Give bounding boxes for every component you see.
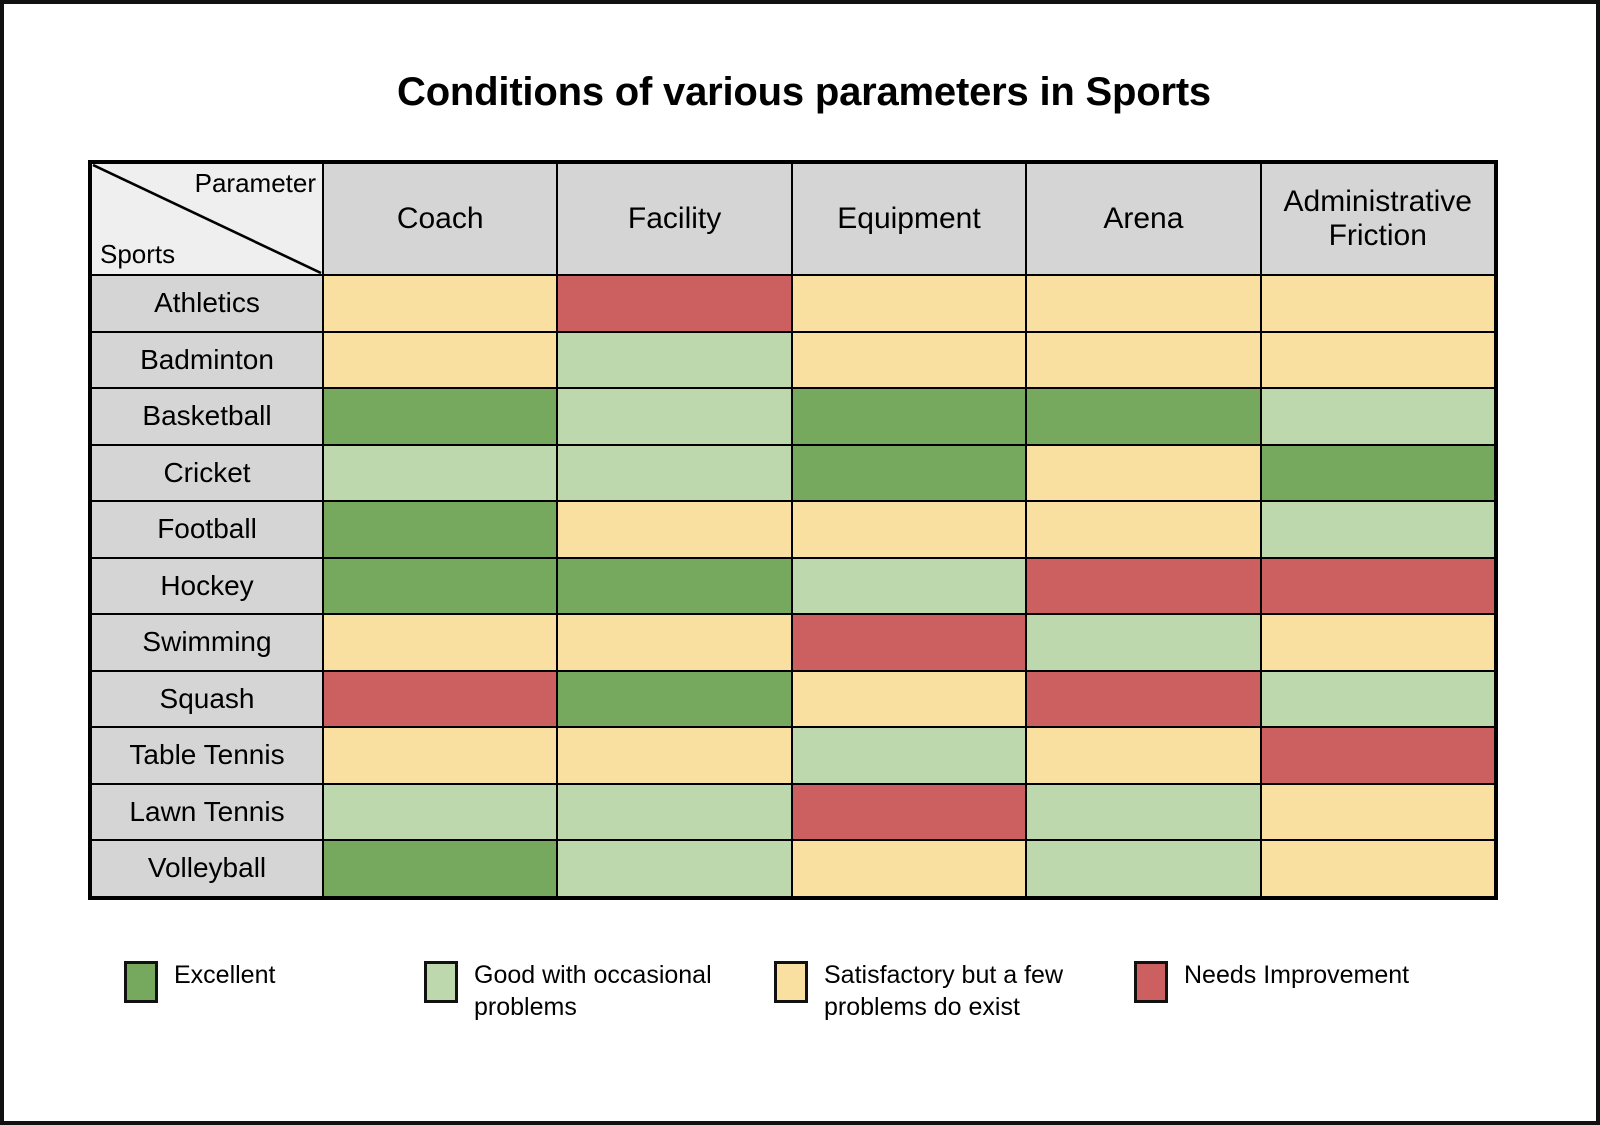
- legend: Excellent Good with occasional problems …: [90, 959, 1510, 1023]
- cell-hockey-arena[interactable]: [1026, 558, 1260, 615]
- matrix-row: Athletics: [91, 275, 1495, 332]
- cell-squash-arena[interactable]: [1026, 671, 1260, 728]
- row-header-hockey[interactable]: Hockey: [91, 558, 323, 615]
- cell-basketball-arena[interactable]: [1026, 388, 1260, 445]
- matrix-row: Lawn Tennis: [91, 784, 1495, 841]
- cell-hockey-coach[interactable]: [323, 558, 557, 615]
- legend-item-good[interactable]: Good with occasional problems: [424, 959, 774, 1023]
- page-root: Conditions of various parameters in Spor…: [0, 0, 1600, 1125]
- legend-swatch-satisfactory: [774, 961, 808, 1003]
- row-header-basketball[interactable]: Basketball: [91, 388, 323, 445]
- cell-badminton-administrative-friction[interactable]: [1261, 332, 1495, 389]
- cell-swimming-administrative-friction[interactable]: [1261, 614, 1495, 671]
- matrix-row: Badminton: [91, 332, 1495, 389]
- matrix-row: Squash: [91, 671, 1495, 728]
- row-header-lawn-tennis[interactable]: Lawn Tennis: [91, 784, 323, 841]
- cell-squash-equipment[interactable]: [792, 671, 1026, 728]
- matrix-container: Parameter Sports Coach Facility Equipmen…: [90, 162, 1494, 898]
- column-header-coach[interactable]: Coach: [323, 163, 557, 275]
- legend-label-good: Good with occasional problems: [474, 959, 744, 1023]
- parameter-axis-label: Parameter: [195, 170, 316, 197]
- cell-football-administrative-friction[interactable]: [1261, 501, 1495, 558]
- cell-volleyball-coach[interactable]: [323, 840, 557, 897]
- matrix-row: Volleyball: [91, 840, 1495, 897]
- cell-cricket-equipment[interactable]: [792, 445, 1026, 502]
- cell-basketball-administrative-friction[interactable]: [1261, 388, 1495, 445]
- cell-badminton-arena[interactable]: [1026, 332, 1260, 389]
- cell-hockey-equipment[interactable]: [792, 558, 1026, 615]
- cell-football-equipment[interactable]: [792, 501, 1026, 558]
- cell-basketball-facility[interactable]: [557, 388, 791, 445]
- row-header-badminton[interactable]: Badminton: [91, 332, 323, 389]
- cell-cricket-facility[interactable]: [557, 445, 791, 502]
- matrix-row: Football: [91, 501, 1495, 558]
- legend-label-needs-improvement: Needs Improvement: [1184, 959, 1409, 991]
- cell-hockey-facility[interactable]: [557, 558, 791, 615]
- cell-hockey-administrative-friction[interactable]: [1261, 558, 1495, 615]
- row-header-volleyball[interactable]: Volleyball: [91, 840, 323, 897]
- cell-badminton-facility[interactable]: [557, 332, 791, 389]
- legend-item-satisfactory[interactable]: Satisfactory but a few problems do exist: [774, 959, 1134, 1023]
- cell-athletics-equipment[interactable]: [792, 275, 1026, 332]
- cell-swimming-arena[interactable]: [1026, 614, 1260, 671]
- matrix-row: Swimming: [91, 614, 1495, 671]
- row-header-athletics[interactable]: Athletics: [91, 275, 323, 332]
- row-header-football[interactable]: Football: [91, 501, 323, 558]
- legend-swatch-good: [424, 961, 458, 1003]
- sports-axis-label: Sports: [100, 241, 175, 268]
- matrix-row: Cricket: [91, 445, 1495, 502]
- matrix-body: AthleticsBadmintonBasketballCricketFootb…: [91, 275, 1495, 897]
- cell-basketball-coach[interactable]: [323, 388, 557, 445]
- cell-lawn-tennis-coach[interactable]: [323, 784, 557, 841]
- cell-swimming-coach[interactable]: [323, 614, 557, 671]
- cell-swimming-equipment[interactable]: [792, 614, 1026, 671]
- page-title: Conditions of various parameters in Spor…: [4, 70, 1600, 115]
- cell-table-tennis-coach[interactable]: [323, 727, 557, 784]
- cell-lawn-tennis-facility[interactable]: [557, 784, 791, 841]
- cell-athletics-facility[interactable]: [557, 275, 791, 332]
- cell-badminton-coach[interactable]: [323, 332, 557, 389]
- cell-football-coach[interactable]: [323, 501, 557, 558]
- row-header-swimming[interactable]: Swimming: [91, 614, 323, 671]
- conditions-matrix-table: Parameter Sports Coach Facility Equipmen…: [90, 162, 1496, 898]
- column-header-equipment[interactable]: Equipment: [792, 163, 1026, 275]
- matrix-row: Hockey: [91, 558, 1495, 615]
- matrix-corner-cell: Parameter Sports: [91, 163, 323, 275]
- row-header-table-tennis[interactable]: Table Tennis: [91, 727, 323, 784]
- cell-volleyball-administrative-friction[interactable]: [1261, 840, 1495, 897]
- legend-label-excellent: Excellent: [174, 959, 275, 991]
- cell-volleyball-arena[interactable]: [1026, 840, 1260, 897]
- cell-cricket-arena[interactable]: [1026, 445, 1260, 502]
- cell-athletics-arena[interactable]: [1026, 275, 1260, 332]
- cell-squash-coach[interactable]: [323, 671, 557, 728]
- matrix-header-row: Parameter Sports Coach Facility Equipmen…: [91, 163, 1495, 275]
- cell-table-tennis-arena[interactable]: [1026, 727, 1260, 784]
- cell-table-tennis-equipment[interactable]: [792, 727, 1026, 784]
- matrix-head: Parameter Sports Coach Facility Equipmen…: [91, 163, 1495, 275]
- cell-football-facility[interactable]: [557, 501, 791, 558]
- cell-squash-administrative-friction[interactable]: [1261, 671, 1495, 728]
- cell-volleyball-facility[interactable]: [557, 840, 791, 897]
- cell-table-tennis-administrative-friction[interactable]: [1261, 727, 1495, 784]
- matrix-row: Table Tennis: [91, 727, 1495, 784]
- cell-lawn-tennis-arena[interactable]: [1026, 784, 1260, 841]
- cell-cricket-administrative-friction[interactable]: [1261, 445, 1495, 502]
- cell-athletics-administrative-friction[interactable]: [1261, 275, 1495, 332]
- legend-label-satisfactory: Satisfactory but a few problems do exist: [824, 959, 1094, 1023]
- column-header-arena[interactable]: Arena: [1026, 163, 1260, 275]
- cell-badminton-equipment[interactable]: [792, 332, 1026, 389]
- cell-volleyball-equipment[interactable]: [792, 840, 1026, 897]
- column-header-facility[interactable]: Facility: [557, 163, 791, 275]
- cell-basketball-equipment[interactable]: [792, 388, 1026, 445]
- cell-football-arena[interactable]: [1026, 501, 1260, 558]
- legend-item-needs-improvement[interactable]: Needs Improvement: [1134, 959, 1464, 1003]
- row-header-squash[interactable]: Squash: [91, 671, 323, 728]
- legend-swatch-excellent: [124, 961, 158, 1003]
- cell-swimming-facility[interactable]: [557, 614, 791, 671]
- legend-swatch-needs-improvement: [1134, 961, 1168, 1003]
- matrix-row: Basketball: [91, 388, 1495, 445]
- column-header-administrative-friction[interactable]: Administrative Friction: [1261, 163, 1495, 275]
- cell-lawn-tennis-administrative-friction[interactable]: [1261, 784, 1495, 841]
- row-header-cricket[interactable]: Cricket: [91, 445, 323, 502]
- cell-lawn-tennis-equipment[interactable]: [792, 784, 1026, 841]
- legend-item-excellent[interactable]: Excellent: [90, 959, 424, 1003]
- cell-athletics-coach[interactable]: [323, 275, 557, 332]
- cell-squash-facility[interactable]: [557, 671, 791, 728]
- cell-table-tennis-facility[interactable]: [557, 727, 791, 784]
- cell-cricket-coach[interactable]: [323, 445, 557, 502]
